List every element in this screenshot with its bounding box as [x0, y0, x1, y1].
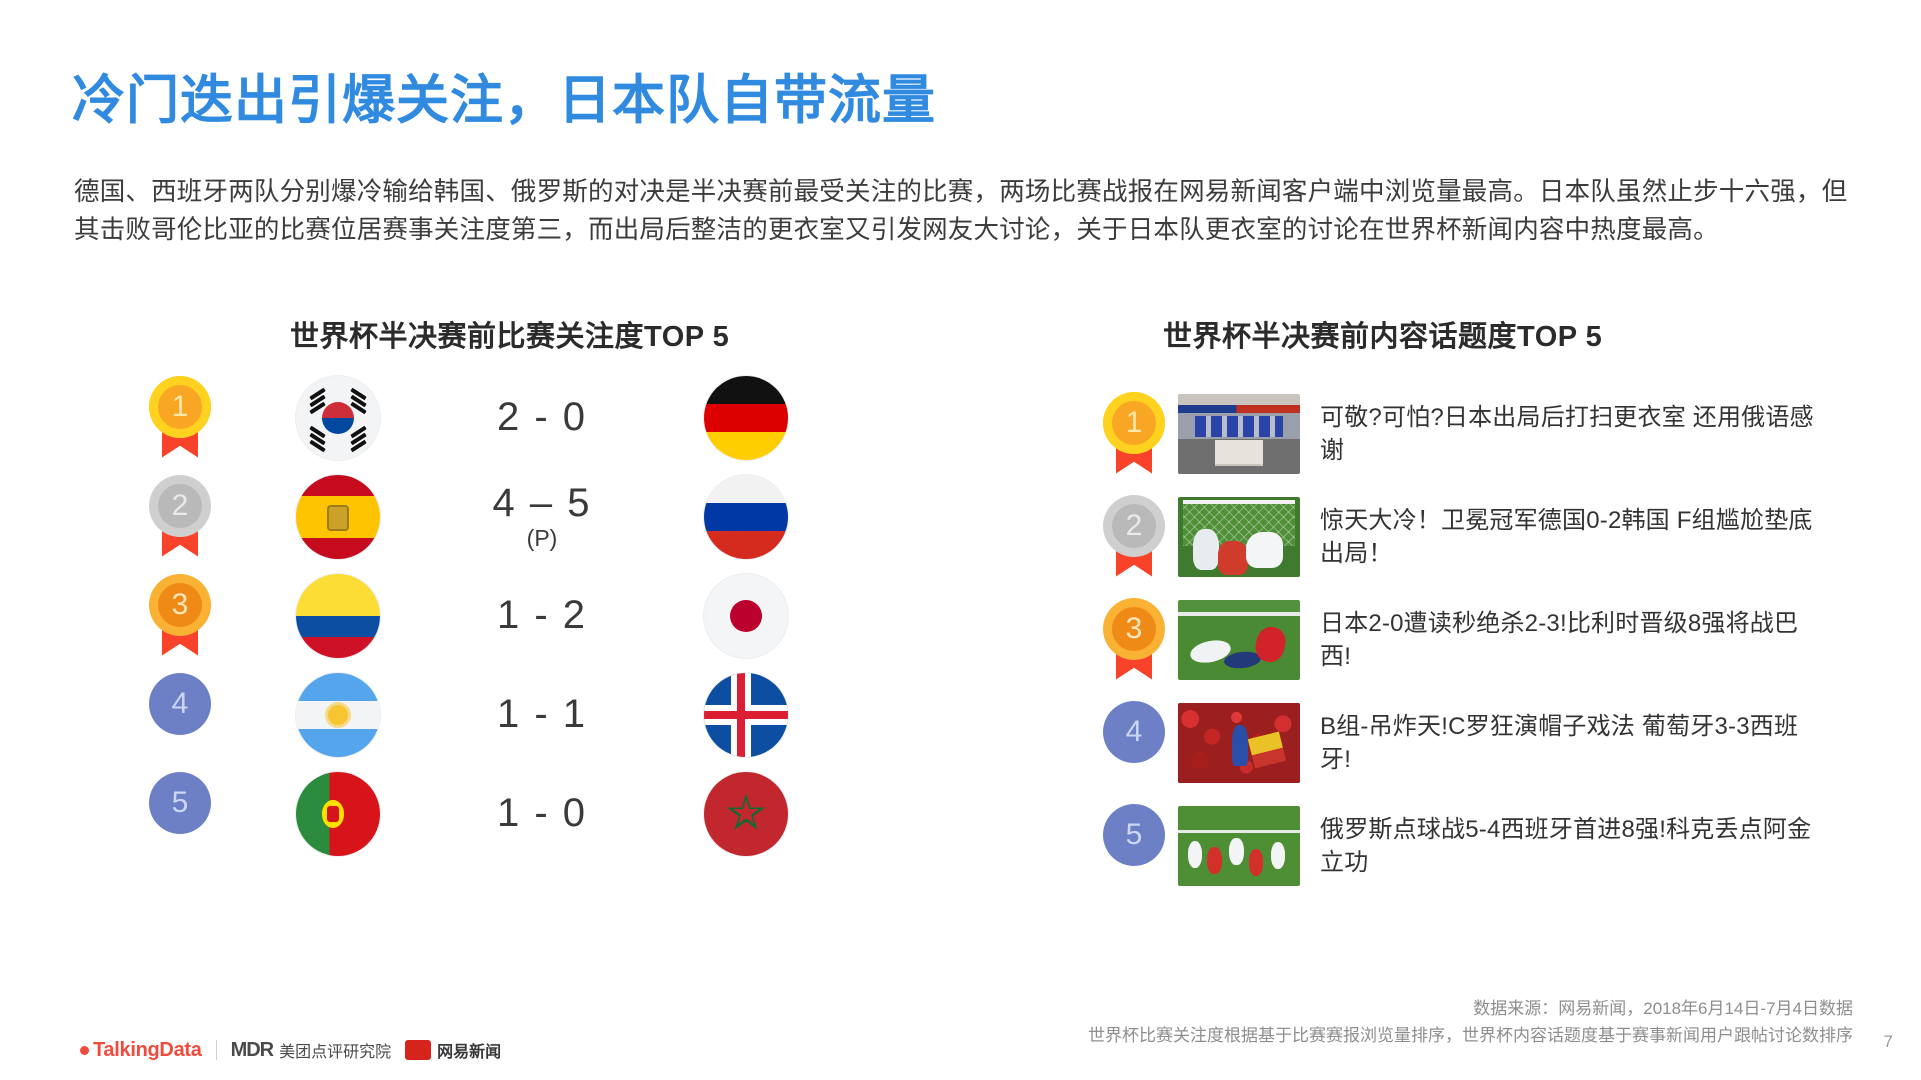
slide-root: 冷门迭出引爆关注，日本队自带流量 德国、西班牙两队分别爆冷输给韩国、俄罗斯的对决… [0, 0, 1921, 1080]
footer-logos: TalkingData MDR 美团点评研究院 网易新闻 [80, 1038, 501, 1062]
flag-russia-icon [704, 475, 788, 559]
rank-badge-cell: 5 [1090, 804, 1178, 888]
page-title: 冷门迭出引爆关注，日本队自带流量 [72, 58, 936, 134]
rank-badge-cell: 2 [1090, 495, 1178, 579]
medal-disc: 1 [149, 376, 211, 438]
rank-disc: 4 [1103, 701, 1165, 763]
list-item[interactable]: 3 日本2-0遭读秒绝杀2-3!比利时晋级8强将战巴西! [1090, 588, 1850, 691]
spain-crest [327, 505, 349, 531]
news-headline[interactable]: 日本2-0遭读秒绝杀2-3!比利时晋级8强将战巴西! [1320, 607, 1820, 673]
rank-badge-icon: 5 [149, 772, 211, 856]
news-headline[interactable]: B组-吊炸天!C罗狂演帽子戏法 葡萄牙3-3西班牙! [1320, 710, 1820, 776]
news-thumbnail-crowd-fans[interactable] [1178, 703, 1300, 783]
rank-number: 2 [158, 484, 202, 528]
home-flag-cell [240, 475, 436, 559]
left-panel-title: 世界杯半决赛前比赛关注度TOP 5 [290, 313, 729, 355]
flag-south-korea-icon [296, 376, 380, 460]
flag-morocco-icon [704, 772, 788, 856]
rank-number: 2 [1112, 504, 1156, 548]
rank-medal-icon: 2 [1103, 495, 1165, 579]
score-text: 1 - 1 [497, 692, 587, 736]
away-flag-cell [648, 772, 844, 856]
score-text: 1 - 0 [497, 791, 587, 835]
medal-disc: 2 [149, 475, 211, 537]
rank-badge-cell: 2 [120, 475, 240, 559]
rank-medal-icon: 1 [149, 376, 211, 460]
flag-colombia-icon [296, 574, 380, 658]
argentina-sun [328, 705, 348, 725]
news-thumbnail-pitch-celebration[interactable] [1178, 806, 1300, 886]
mdr-logo: MDR 美团点评研究院 [231, 1038, 392, 1062]
rank-medal-icon: 1 [1103, 392, 1165, 476]
score-text: 4 – 5 [493, 481, 592, 525]
rank-badge-cell: 3 [1090, 598, 1178, 682]
talkingdata-wordmark: TalkingData [93, 1039, 202, 1062]
score-text: 2 - 0 [497, 395, 587, 439]
rank-medal-icon: 3 [149, 574, 211, 658]
score-text: 1 - 2 [497, 593, 587, 637]
rank-number: 4 [172, 687, 189, 721]
score-cell: 2 - 0 [436, 396, 648, 440]
news-headline[interactable]: 俄罗斯点球战5-4西班牙首进8强!科克丢点阿金立功 [1320, 813, 1820, 879]
rank-medal-icon: 3 [1103, 598, 1165, 682]
rank-disc: 4 [149, 673, 211, 735]
score-cell: 1 - 2 [436, 594, 648, 638]
morocco-star [726, 794, 766, 834]
rank-badge-icon: 4 [149, 673, 211, 757]
list-item[interactable]: 1 可敬?可怕?日本出局后打扫更衣室 还用俄语感谢 [1090, 382, 1850, 485]
rank-badge-icon: 4 [1103, 701, 1165, 785]
list-item[interactable]: 2 惊天大冷！卫冕冠军德国0-2韩国 F组尴尬垫底出局！ [1090, 485, 1850, 588]
away-flag-cell [648, 475, 844, 559]
news-thumbnail-goal-save[interactable] [1178, 497, 1300, 577]
rank-number: 3 [1112, 607, 1156, 651]
mdr-wordmark: MDR [231, 1039, 274, 1062]
netease-name: 网易新闻 [437, 1038, 501, 1062]
table-row[interactable]: 1 [120, 368, 940, 467]
rank-badge-cell: 4 [120, 673, 240, 757]
rank-medal-icon: 2 [149, 475, 211, 559]
home-flag-cell [240, 574, 436, 658]
news-thumbnail-japan-belgium[interactable] [1178, 600, 1300, 680]
flag-portugal-icon [296, 772, 380, 856]
away-flag-cell [648, 574, 844, 658]
score-cell: 1 - 1 [436, 693, 648, 737]
table-row[interactable]: 2 4 – 5 (P) [120, 467, 940, 566]
right-panel-title: 世界杯半决赛前内容话题度TOP 5 [1163, 313, 1602, 355]
rank-badge-cell: 4 [1090, 701, 1178, 785]
flag-spain-icon [296, 475, 380, 559]
news-thumbnail-locker-room[interactable] [1178, 394, 1300, 474]
rank-number: 4 [1126, 715, 1143, 749]
score-cell: 4 – 5 (P) [436, 482, 648, 550]
talkingdata-dot-icon [80, 1046, 89, 1055]
list-item[interactable]: 4 B组-吊炸天!C罗狂演帽子戏法 葡萄牙3-3西班牙! [1090, 691, 1850, 794]
rank-number: 1 [1112, 401, 1156, 445]
taeguk-symbol [322, 402, 354, 434]
rank-number: 5 [1126, 818, 1143, 852]
rank-badge-cell: 3 [120, 574, 240, 658]
home-flag-cell [240, 673, 436, 757]
japan-sun [730, 600, 762, 632]
flag-argentina-icon [296, 673, 380, 757]
rank-number: 3 [158, 583, 202, 627]
rank-badge-cell: 5 [120, 772, 240, 856]
news-headline[interactable]: 惊天大冷！卫冕冠军德国0-2韩国 F组尴尬垫底出局！ [1320, 504, 1820, 570]
table-row[interactable]: 4 1 - 1 [120, 665, 940, 764]
table-row[interactable]: 5 1 - 0 [120, 764, 940, 863]
rank-badge-icon: 5 [1103, 804, 1165, 888]
portugal-shield [322, 800, 344, 828]
rank-disc: 5 [149, 772, 211, 834]
away-flag-cell [648, 673, 844, 757]
flag-japan-icon [704, 574, 788, 658]
source-line-1: 数据来源：网易新闻，2018年6月14日-7月4日数据 [1088, 995, 1853, 1022]
table-row[interactable]: 3 1 - 2 [120, 566, 940, 665]
home-flag-cell [240, 772, 436, 856]
medal-disc: 1 [1103, 392, 1165, 454]
score-note: (P) [436, 526, 648, 550]
logo-divider [216, 1040, 217, 1060]
rank-badge-cell: 1 [120, 376, 240, 460]
mdr-name: 美团点评研究院 [279, 1038, 391, 1062]
home-flag-cell [240, 376, 436, 460]
medal-disc: 3 [149, 574, 211, 636]
news-topic-list: 1 可敬?可怕?日本出局后打扫更衣室 还用俄语感谢 2 [1090, 382, 1850, 897]
rank-badge-cell: 1 [1090, 392, 1178, 476]
flag-germany-icon [704, 376, 788, 460]
rank-number: 1 [158, 385, 202, 429]
source-note: 数据来源：网易新闻，2018年6月14日-7月4日数据 世界杯比赛关注度根据基于… [1088, 995, 1853, 1049]
talkingdata-logo: TalkingData [80, 1039, 202, 1062]
netease-logo: 网易新闻 [405, 1038, 501, 1062]
page-number: 7 [1884, 1032, 1893, 1052]
source-line-2: 世界杯比赛关注度根据基于比赛赛报浏览量排序，世界杯内容话题度基于赛事新闻用户跟帖… [1088, 1022, 1853, 1049]
rank-number: 5 [172, 786, 189, 820]
rank-disc: 5 [1103, 804, 1165, 866]
list-item[interactable]: 5 俄罗斯点球战5-4西班牙首进8强!科克丢点阿金立功 [1090, 794, 1850, 897]
flag-iceland-icon [704, 673, 788, 757]
match-attention-list: 1 [120, 368, 940, 863]
away-flag-cell [648, 376, 844, 460]
netease-mark-icon [405, 1040, 431, 1060]
medal-disc: 3 [1103, 598, 1165, 660]
medal-disc: 2 [1103, 495, 1165, 557]
score-cell: 1 - 0 [436, 792, 648, 836]
intro-paragraph: 德国、西班牙两队分别爆冷输给韩国、俄罗斯的对决是半决赛前最受关注的比赛，两场比赛… [74, 173, 1864, 249]
news-headline[interactable]: 可敬?可怕?日本出局后打扫更衣室 还用俄语感谢 [1320, 401, 1820, 467]
